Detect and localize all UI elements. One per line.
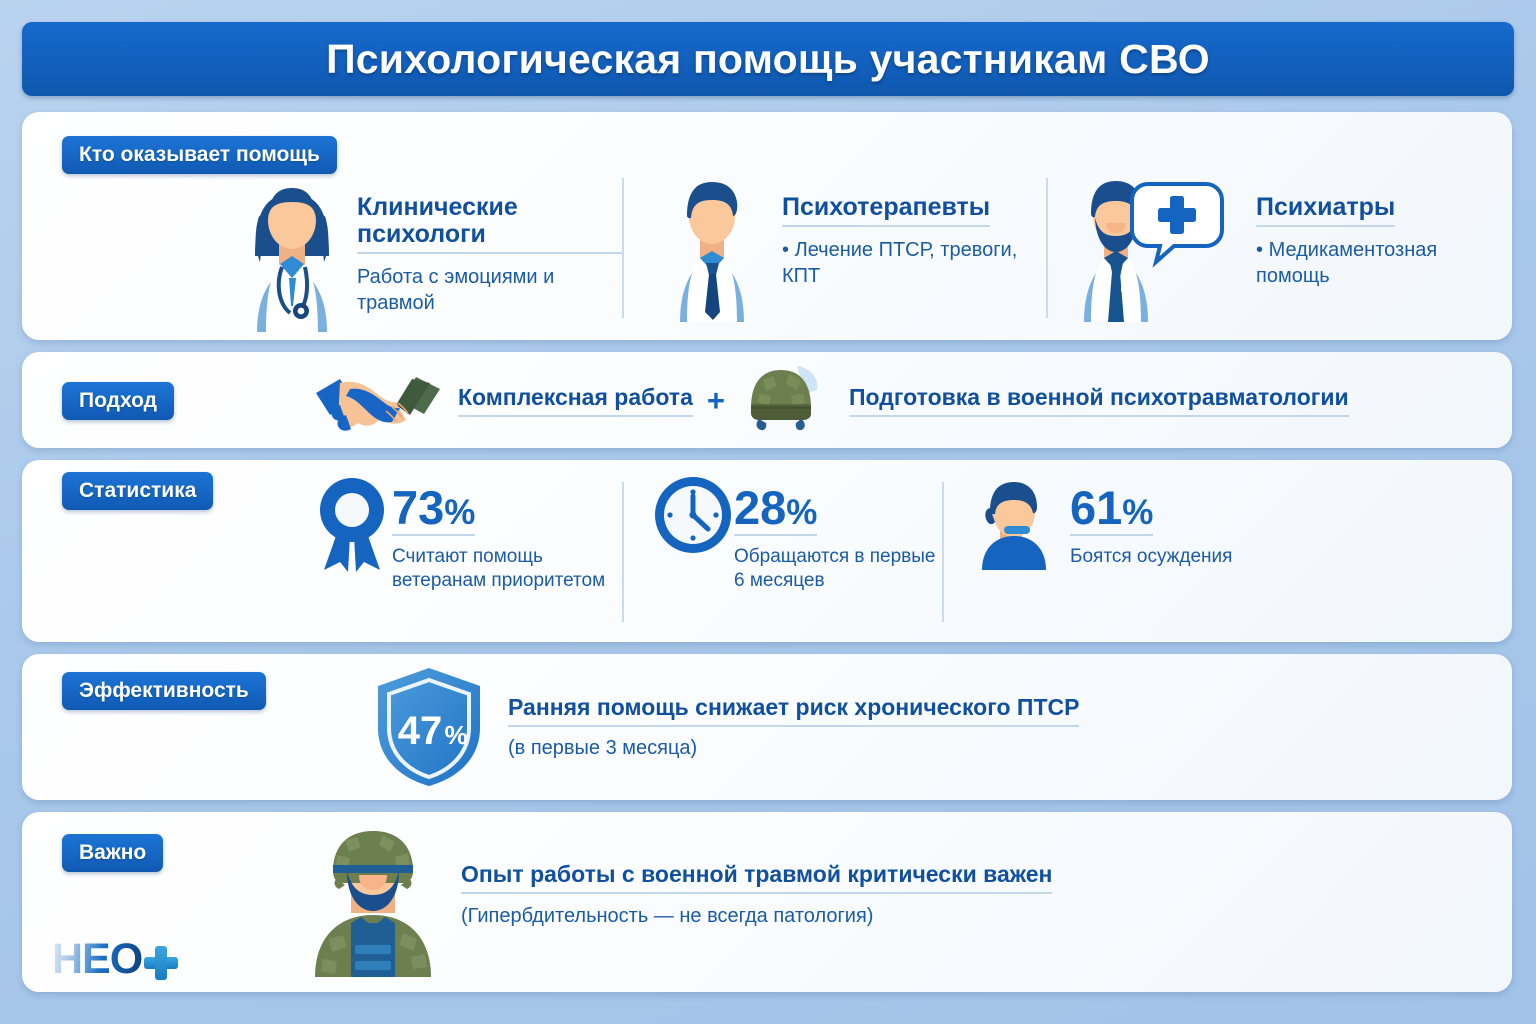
stat-text-priority: 73% Считают помощь ветеранам приоритетом xyxy=(392,474,622,594)
female-psychologist-icon xyxy=(227,170,357,332)
effectiveness-text: Ранняя помощь снижает риск хронического … xyxy=(508,694,1079,760)
military-helmet-icon xyxy=(739,362,835,438)
male-therapist-icon xyxy=(662,170,782,322)
stat-caption: Обращаются в первые 6 месяцев xyxy=(734,545,942,594)
section-badge-approach: Подход xyxy=(62,382,174,420)
page-title: Психологическая помощь участникам СВО xyxy=(326,36,1210,83)
statistics-row: 73% Считают помощь ветеранам приоритетом xyxy=(312,474,1272,636)
provider-text-clinical-psychologists: Клинические психологи Работа с эмоциями … xyxy=(357,170,622,317)
effectiveness-title: Ранняя помощь снижает риск хронического … xyxy=(508,694,1079,727)
stat-text-fear-of-judgement: 61% Боятся осуждения xyxy=(1070,474,1232,569)
stat-value: 73% xyxy=(392,486,475,536)
provider-title: Клинические психологи xyxy=(357,194,622,254)
column-divider xyxy=(1046,178,1048,318)
effectiveness-row: 47 % Ранняя помощь снижает риск хроничес… xyxy=(372,654,1079,800)
panel-providers: Кто оказывает помощь xyxy=(22,112,1512,340)
provider-desc-text: Лечение ПТСР, тревоги, КПТ xyxy=(782,239,1017,287)
stat-item-fear-of-judgement: 61% Боятся осуждения xyxy=(942,474,1272,636)
panel-effectiveness: Эффективность 47 % Ранняя помощь снижает… xyxy=(22,654,1512,800)
shield-value: 47 xyxy=(398,709,443,753)
person-headset-icon xyxy=(974,474,1070,570)
plus-cross-icon xyxy=(144,946,178,980)
stat-item-priority: 73% Считают помощь ветеранам приоритетом xyxy=(312,474,622,636)
important-title: Опыт работы с военной травмой критически… xyxy=(461,861,1052,894)
panel-statistics: Статистика 73% Считают помощь ветеранам … xyxy=(22,460,1512,642)
provider-text-psychiatrists: Психиатры • Медикаментозная помощь xyxy=(1256,170,1512,290)
effectiveness-note: (в первые 3 месяца) xyxy=(508,737,1079,760)
provider-item-psychotherapists: Психотерапевты • Лечение ПТСР, тревоги, … xyxy=(622,170,1046,338)
award-ribbon-icon xyxy=(312,474,392,578)
plus-operator: + xyxy=(707,385,725,416)
column-divider xyxy=(622,178,624,318)
provider-desc-text: Медикаментозная помощь xyxy=(1256,239,1437,287)
approach-left-label: Комплексная работа xyxy=(458,384,693,417)
bearded-psychiatrist-icon xyxy=(1066,170,1256,322)
important-text: Опыт работы с военной травмой критически… xyxy=(461,861,1052,944)
provider-title: Психотерапевты xyxy=(782,194,990,227)
section-badge-effectiveness: Эффективность xyxy=(62,672,266,710)
section-badge-important: Важно xyxy=(62,834,163,872)
brand-wordmark: НЕО xyxy=(52,939,142,980)
approach-right-label: Подготовка в военной психотравматологии xyxy=(849,384,1349,417)
stat-caption: Считают помощь ветеранам приоритетом xyxy=(392,545,622,594)
clock-icon xyxy=(652,474,734,556)
panel-approach: Подход Комплексная работа + xyxy=(22,352,1512,448)
bullet-dot: • xyxy=(782,239,795,261)
provider-desc: • Лечение ПТСР, тревоги, КПТ xyxy=(782,237,1046,290)
provider-title: Психиатры xyxy=(1256,194,1395,227)
shield-unit: % xyxy=(444,720,467,750)
provider-desc: • Медикаментозная помощь xyxy=(1256,237,1512,290)
provider-item-psychiatrists: Психиатры • Медикаментозная помощь xyxy=(1046,170,1512,338)
approach-row: Комплексная работа + Подготовка в военно… xyxy=(312,352,1349,448)
shield-icon: 47 % xyxy=(372,666,486,788)
column-divider xyxy=(942,482,944,622)
handshake-icon xyxy=(312,365,444,435)
provider-text-psychotherapists: Психотерапевты • Лечение ПТСР, тревоги, … xyxy=(782,170,1046,290)
provider-item-clinical-psychologists: Клинические психологи Работа с эмоциями … xyxy=(22,170,622,338)
panel-important: Важно xyxy=(22,812,1512,992)
stat-item-first-six-months: 28% Обращаются в первые 6 месяцев xyxy=(622,474,942,636)
column-divider xyxy=(622,482,624,622)
stat-caption: Боятся осуждения xyxy=(1070,545,1232,570)
section-badge-statistics: Статистика xyxy=(62,472,213,510)
important-note: (Гипербдительность — не всегда патология… xyxy=(461,905,1052,928)
stat-value: 61% xyxy=(1070,486,1153,536)
stat-value: 28% xyxy=(734,486,817,536)
section-badge-providers: Кто оказывает помощь xyxy=(62,136,337,174)
stat-text-first-six-months: 28% Обращаются в первые 6 месяцев xyxy=(734,474,942,594)
brand-logo: НЕО xyxy=(52,934,178,980)
providers-row: Клинические психологи Работа с эмоциями … xyxy=(22,170,1512,338)
soldier-icon xyxy=(307,827,439,977)
title-bar: Психологическая помощь участникам СВО xyxy=(22,22,1514,96)
important-row: Опыт работы с военной травмой критически… xyxy=(307,812,1052,992)
provider-desc: Работа с эмоциями и травмой xyxy=(357,264,622,317)
bullet-dot: • xyxy=(1256,239,1269,261)
